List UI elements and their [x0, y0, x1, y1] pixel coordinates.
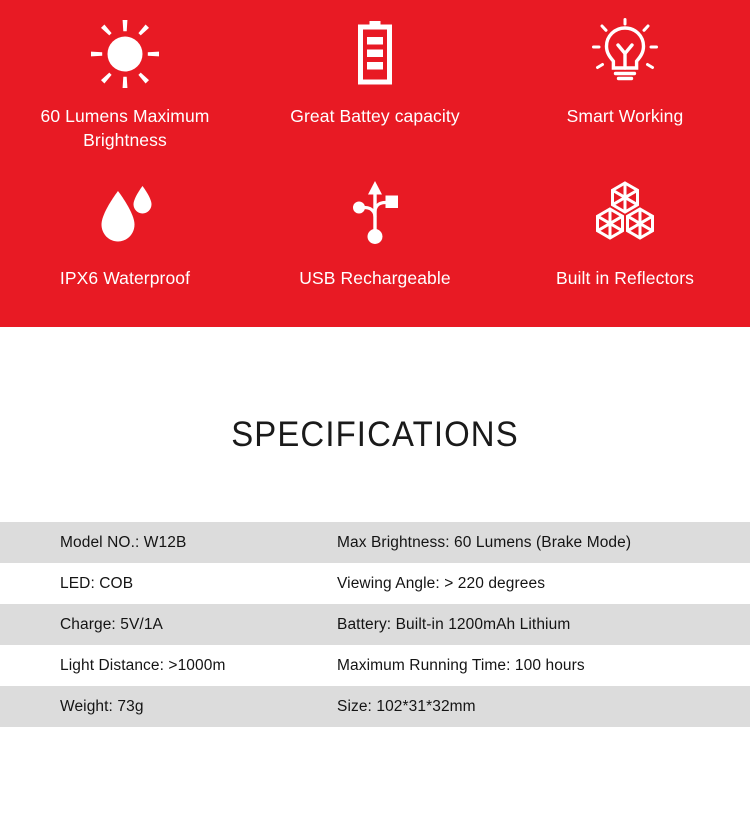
sun-icon — [85, 18, 165, 90]
battery-icon — [335, 18, 415, 90]
spec-cell-right: Viewing Angle: > 220 degrees — [337, 574, 750, 594]
feature-item-battery: Great Battey capacity — [250, 0, 500, 172]
feature-item-label: IPX6 Waterproof — [60, 266, 190, 290]
spec-cell-right: Maximum Running Time: 100 hours — [337, 656, 750, 676]
feature-item-label: Smart Working — [567, 104, 684, 128]
table-row: LED: COB Viewing Angle: > 220 degrees — [0, 563, 750, 604]
table-row: Charge: 5V/1A Battery: Built-in 1200mAh … — [0, 604, 750, 645]
hexagon-reflector-icon — [585, 178, 665, 250]
table-row: Light Distance: >1000m Maximum Running T… — [0, 645, 750, 686]
lightbulb-icon — [585, 18, 665, 90]
feature-grid: 60 Lumens Maximum Brightness Great Batte… — [0, 0, 750, 327]
spec-cell-left: Charge: 5V/1A — [0, 615, 337, 635]
spec-cell-left: LED: COB — [0, 574, 337, 594]
feature-item-usb: USB Rechargeable — [250, 172, 500, 300]
spec-cell-left: Light Distance: >1000m — [0, 656, 337, 676]
spec-cell-left: Weight: 73g — [0, 697, 337, 717]
feature-item-waterproof: IPX6 Waterproof — [0, 172, 250, 300]
water-drop-icon — [85, 178, 165, 250]
table-row: Weight: 73g Size: 102*31*32mm — [0, 686, 750, 727]
specifications-heading: SPECIFICATIONS — [23, 414, 728, 456]
feature-item-reflectors: Built in Reflectors — [500, 172, 750, 300]
feature-highlight-panel: 60 Lumens Maximum Brightness Great Batte… — [0, 0, 750, 327]
feature-item-label: Great Battey capacity — [290, 104, 459, 128]
feature-item-label: USB Rechargeable — [299, 266, 450, 290]
usb-icon — [335, 178, 415, 250]
feature-item-smart-working: Smart Working — [500, 0, 750, 172]
table-row: Model NO.: W12B Max Brightness: 60 Lumen… — [0, 522, 750, 563]
specifications-table: Model NO.: W12B Max Brightness: 60 Lumen… — [0, 522, 750, 727]
feature-item-label: Built in Reflectors — [556, 266, 694, 290]
product-detail-page: 60 Lumens Maximum Brightness Great Batte… — [0, 0, 750, 821]
spec-cell-right: Size: 102*31*32mm — [337, 697, 750, 717]
spec-cell-right: Battery: Built-in 1200mAh Lithium — [337, 615, 750, 635]
spec-cell-left: Model NO.: W12B — [0, 533, 337, 553]
feature-item-label: 60 Lumens Maximum Brightness — [20, 104, 230, 152]
feature-item-brightness: 60 Lumens Maximum Brightness — [0, 0, 250, 172]
spec-cell-right: Max Brightness: 60 Lumens (Brake Mode) — [337, 533, 750, 553]
